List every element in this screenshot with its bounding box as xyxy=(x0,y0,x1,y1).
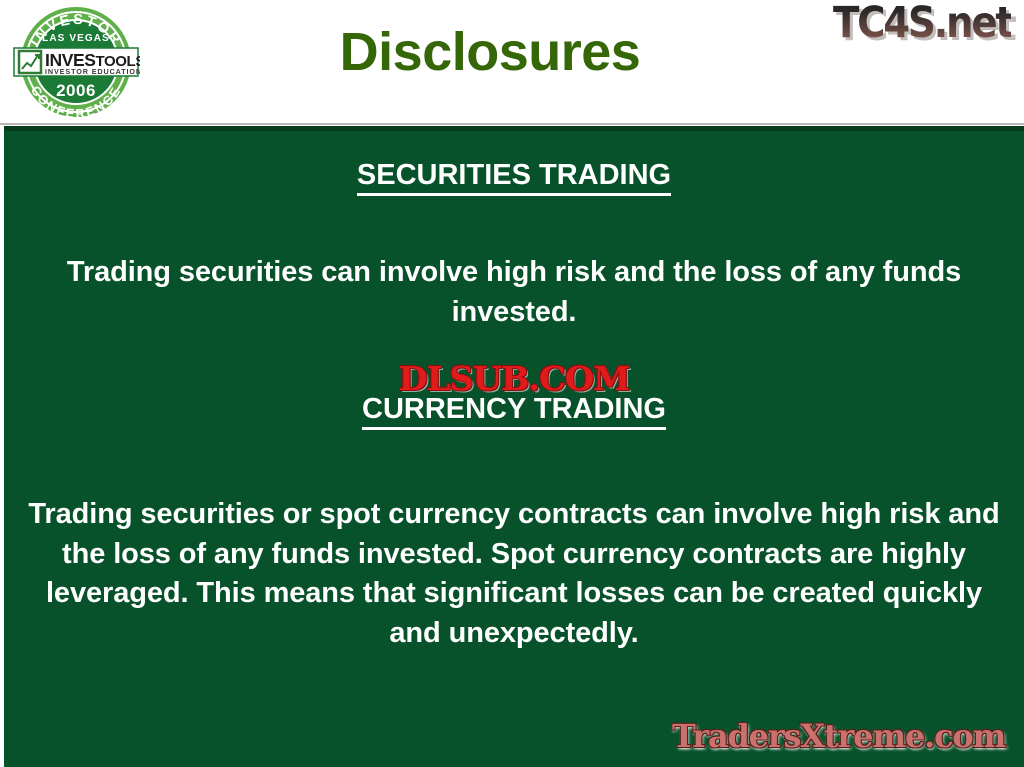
slide-header: INVESTOR CONFERENCE LAS VEGAS INVESTOOLS… xyxy=(0,0,1024,125)
slide-content: SECURITIES TRADING Trading securities ca… xyxy=(4,131,1024,767)
section-body-securities: Trading securities can involve high risk… xyxy=(44,253,984,332)
tradersxtreme-watermark: TradersXtreme.com xyxy=(672,717,1005,755)
presentation-slide: INVESTOR CONFERENCE LAS VEGAS INVESTOOLS… xyxy=(0,0,1024,767)
badge-tagline-text: INVESTOR EDUCATION xyxy=(45,67,140,76)
investools-conference-logo: INVESTOR CONFERENCE LAS VEGAS INVESTOOLS… xyxy=(12,4,140,120)
section-heading-currency-text: CURRENCY TRADING xyxy=(362,393,666,430)
badge-year-text: 2006 xyxy=(56,81,96,100)
header-divider xyxy=(0,123,1024,125)
tc4s-wordmark: TC4S.net xyxy=(833,0,1012,48)
page-title: Disclosures xyxy=(170,24,810,81)
line-chart-icon xyxy=(19,51,41,73)
dlsub-watermark: DLSUB.COM xyxy=(0,359,1024,398)
section-body-currency: Trading securities or spot currency cont… xyxy=(28,495,1000,654)
section-heading-securities-text: SECURITIES TRADING xyxy=(357,159,671,196)
badge-city-text: LAS VEGAS xyxy=(42,33,110,44)
section-heading-securities: SECURITIES TRADING xyxy=(4,159,1024,192)
slide-body-panel: SECURITIES TRADING Trading securities ca… xyxy=(4,131,1024,767)
